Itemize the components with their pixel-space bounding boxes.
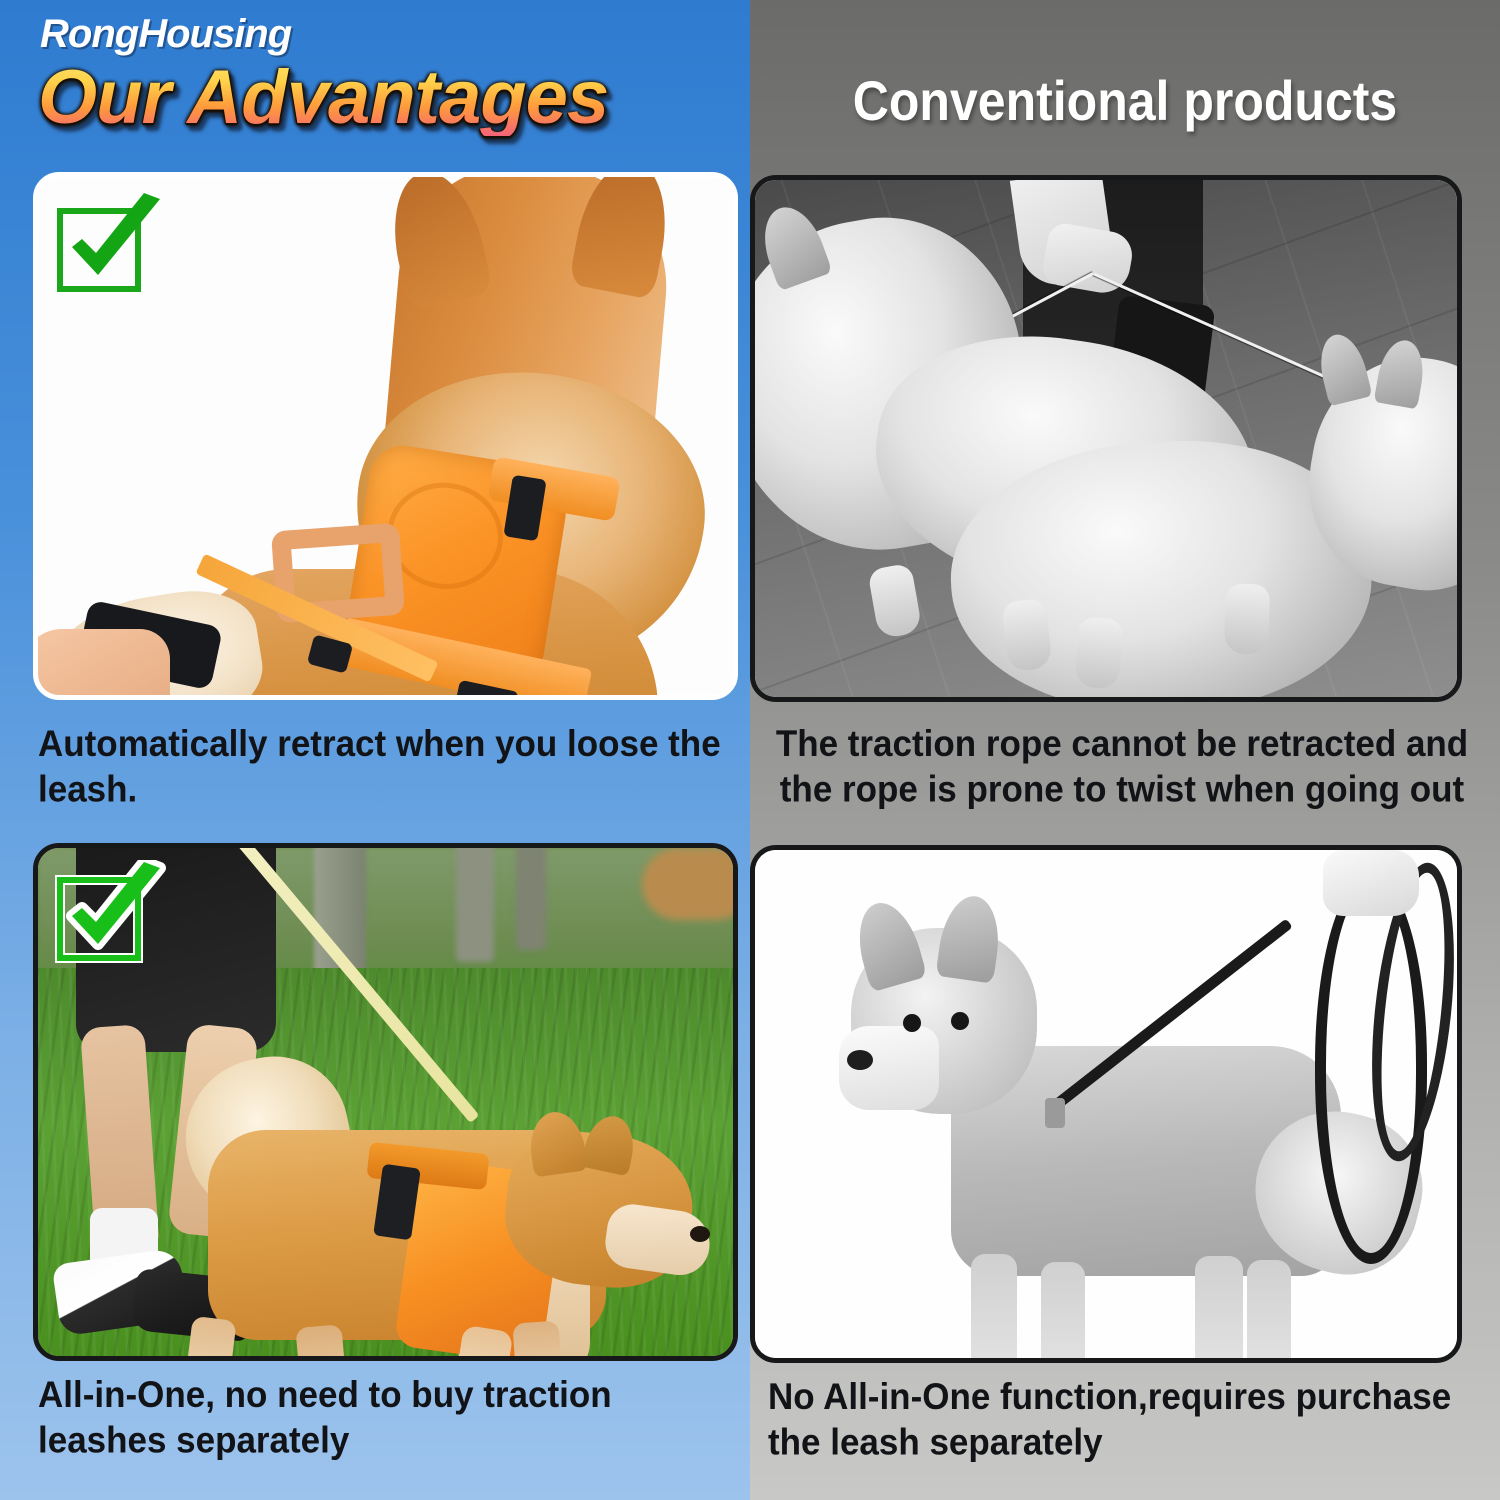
advantage-photo-card-1 — [33, 172, 738, 700]
conventional-photo-card-1 — [750, 175, 1462, 702]
photo-tangled-leashes — [755, 180, 1457, 697]
green-check-icon — [52, 860, 172, 972]
advantages-title: Our Advantages — [38, 60, 608, 136]
conventional-title: Conventional products — [750, 69, 1500, 134]
brand-name: RongHousing — [40, 12, 291, 57]
conventional-caption-2: No All-in-One function,requires purchase… — [768, 1375, 1458, 1465]
green-check-icon — [52, 191, 172, 303]
advantage-caption-1: Automatically retract when you loose the… — [38, 722, 744, 812]
photo-separate-leash — [755, 850, 1457, 1358]
conventional-panel: Conventional products — [750, 0, 1500, 1500]
advantage-caption-2: All-in-One, no need to buy traction leas… — [38, 1373, 738, 1463]
conventional-photo-card-2 — [750, 845, 1462, 1363]
conventional-caption-1: The traction rope cannot be retracted an… — [772, 722, 1472, 812]
advantages-panel: RongHousing Our Advantages — [0, 0, 750, 1500]
advantage-photo-card-2 — [33, 843, 738, 1361]
comparison-infographic: RongHousing Our Advantages — [0, 0, 1500, 1500]
